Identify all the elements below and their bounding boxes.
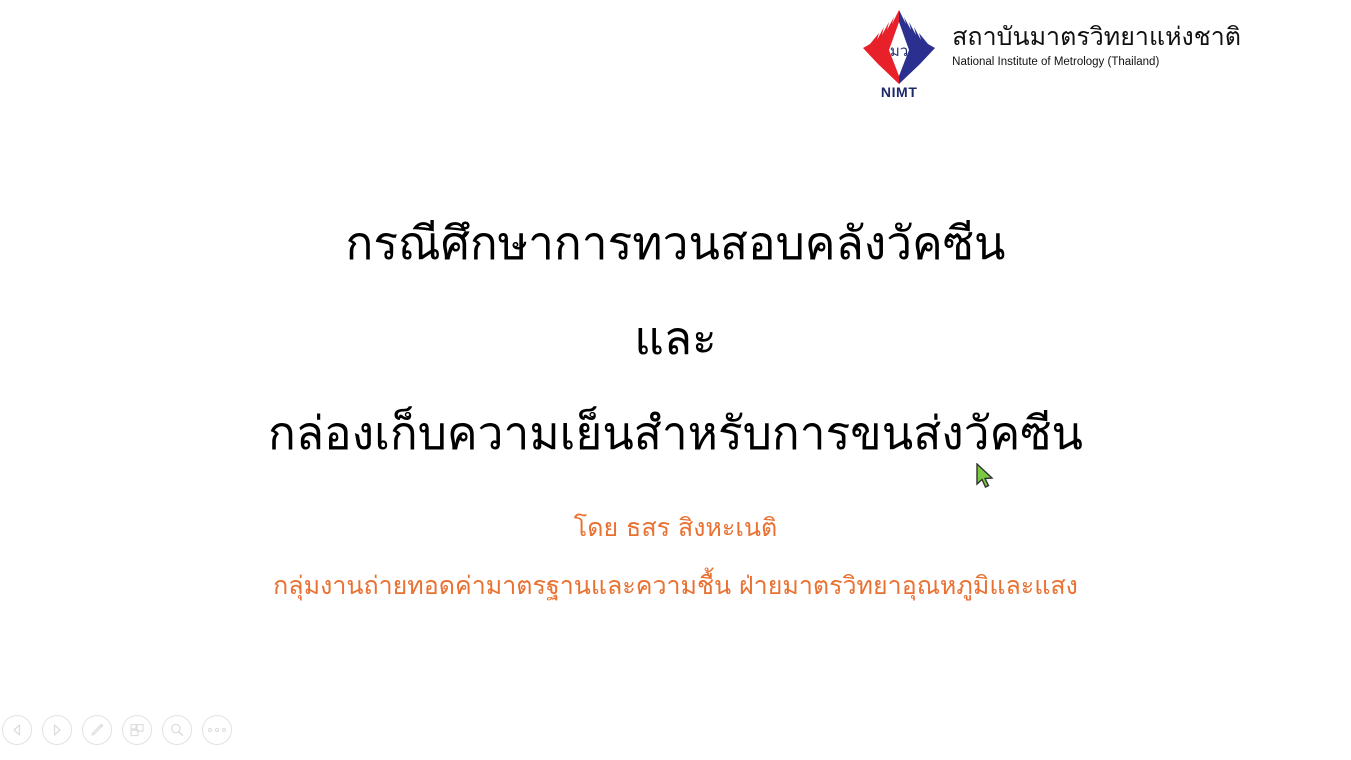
zoom-icon: [169, 722, 185, 738]
title-line-1: กรณีศึกษาการทวนสอบคลังวัคซีน: [0, 196, 1351, 291]
next-slide-icon: [50, 723, 64, 737]
more-options-icon: [208, 728, 226, 732]
slide-canvas: มว NIMT สถาบันมาตรวิทยาแห่งชาติ National…: [0, 0, 1351, 760]
affiliation-text: กลุ่มงานถ่ายทอดค่ามาตรฐานและความชื้น ฝ่า…: [0, 566, 1351, 606]
dot-2: [215, 728, 219, 732]
slide-overview-button[interactable]: [122, 715, 152, 745]
dot-1: [208, 728, 212, 732]
author-byline: โดย ธสร สิงหะเนติ: [0, 508, 1351, 548]
next-slide-button[interactable]: [42, 715, 72, 745]
nimt-logo-text: สถาบันมาตรวิทยาแห่งชาติ National Institu…: [952, 8, 1241, 70]
previous-slide-icon: [10, 723, 24, 737]
nimt-logo-block: มว NIMT สถาบันมาตรวิทยาแห่งชาติ National…: [856, 8, 1241, 100]
svg-text:มว: มว: [890, 42, 908, 60]
more-options-button[interactable]: [202, 715, 232, 745]
presentation-toolbar: [0, 700, 232, 760]
pen-icon: [89, 722, 105, 738]
previous-slide-button[interactable]: [2, 715, 32, 745]
zoom-button[interactable]: [162, 715, 192, 745]
dot-3: [222, 728, 226, 732]
title-line-2: และ: [0, 291, 1351, 386]
institute-name-thai: สถาบันมาตรวิทยาแห่งชาติ: [952, 24, 1241, 50]
nimt-diamond-logo-icon: มว NIMT: [856, 8, 942, 100]
institute-name-english: National Institute of Metrology (Thailan…: [952, 56, 1241, 70]
slide-overview-icon: [129, 722, 145, 738]
slide-title: กรณีศึกษาการทวนสอบคลังวัคซีน และ กล่องเก…: [0, 196, 1351, 481]
pen-button[interactable]: [82, 715, 112, 745]
title-line-3: กล่องเก็บความเย็นสำหรับการขนส่งวัคซีน: [0, 386, 1351, 481]
slide-credits: โดย ธสร สิงหะเนติ กลุ่มงานถ่ายทอดค่ามาตร…: [0, 508, 1351, 606]
nimt-acronym: NIMT: [856, 84, 942, 100]
